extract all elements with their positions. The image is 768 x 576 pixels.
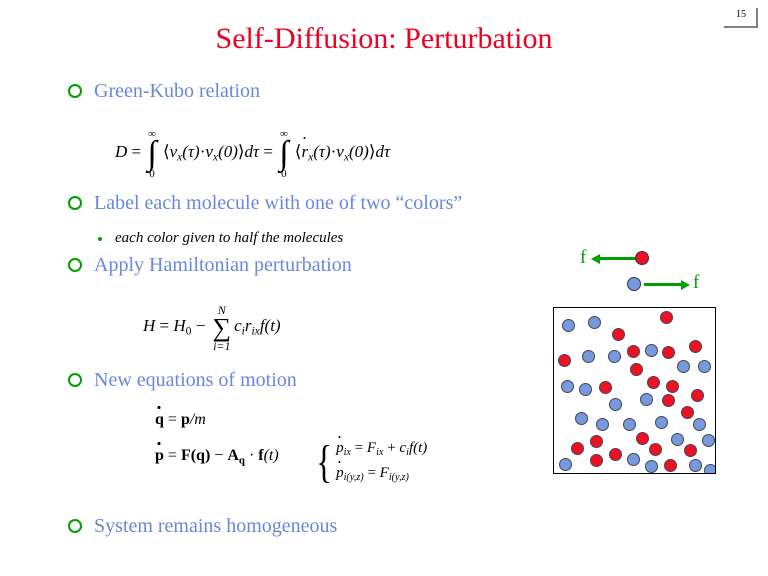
molecule-red	[636, 432, 649, 445]
arrow-line-right	[644, 283, 682, 286]
eq-H-minus: −	[196, 316, 206, 335]
molecule-blue	[588, 316, 601, 329]
eq-b1-p: p	[336, 440, 344, 457]
eq-gk-vx1-arg: (τ)	[182, 142, 199, 161]
molecule-red	[558, 354, 571, 367]
ring-bullet-icon	[68, 519, 82, 533]
molecule-red	[662, 394, 675, 407]
integral-sign-icon: ∫	[147, 139, 156, 169]
eq-b2-p-sub: i(y,z)	[344, 472, 364, 483]
slide-number: 15	[728, 9, 754, 21]
force-label-right: f	[693, 272, 699, 294]
eq-q-m: m	[194, 411, 206, 428]
molecule-red	[571, 442, 584, 455]
brace-equation-lines: pix = Fix + cif(t) pi(y,z) = Fi(y,z)	[336, 440, 427, 483]
equation-motion-p: p = F(q) − Aq · f(t)	[155, 447, 279, 466]
molecule-red	[590, 435, 603, 448]
eq-b2-equals: =	[367, 465, 375, 481]
eq-gk-dtau-2: dτ	[375, 142, 390, 161]
molecule-blue	[693, 418, 706, 431]
molecule-blue	[671, 433, 684, 446]
molecule-blue	[596, 418, 609, 431]
eq-gk-bra-2: ⟨	[295, 142, 302, 161]
molecule-red	[691, 389, 704, 402]
eq-p-dot: ·	[249, 447, 254, 464]
red-particle-top	[635, 251, 649, 265]
eq-b1-p-sub: ix	[344, 447, 351, 458]
eq-b2-F: F	[380, 465, 389, 481]
bullet-label: System remains homogeneous	[94, 515, 337, 537]
molecule-blue	[702, 434, 715, 447]
molecule-blue	[645, 460, 658, 473]
eq-H-f-arg: (t)	[265, 316, 281, 335]
molecule-blue	[562, 319, 575, 332]
molecule-simulation-box	[553, 307, 716, 474]
eq-q-equals: =	[168, 411, 177, 428]
molecule-red	[684, 444, 697, 457]
dot-bullet-icon	[98, 237, 102, 241]
eq-gk-ket-1: ⟩	[238, 142, 245, 161]
eq-gk-dtau-1: dτ	[245, 142, 260, 161]
eq-H: H	[143, 316, 155, 335]
eq-b2-F-sub: i(y,z)	[389, 472, 409, 483]
eq-gk-rdot-arg: (τ)	[313, 142, 330, 161]
braced-equation-p-i-yz: pi(y,z) = Fi(y,z)	[336, 465, 427, 483]
eq-gk-equals: =	[132, 142, 142, 161]
eq-gk-equals-2: =	[263, 142, 273, 161]
molecule-red	[647, 376, 660, 389]
eq-pdot: p	[155, 447, 164, 465]
eq-qdot: q	[155, 411, 164, 429]
molecule-blue	[579, 383, 592, 396]
integral-sign-icon-2: ∫	[279, 139, 288, 169]
molecule-blue	[561, 380, 574, 393]
eq-gk-vx3-arg: (0)	[349, 142, 369, 161]
eq-p-F: F	[181, 447, 191, 464]
molecule-blue	[677, 360, 690, 373]
bullet-apply-hamiltonian: Apply Hamiltonian perturbation	[68, 254, 352, 276]
eq-gk-bra-1: ⟨	[163, 142, 170, 161]
eq-p-A-sub: q	[239, 454, 245, 466]
molecule-red	[627, 345, 640, 358]
eq-p-f-arg: (t)	[264, 447, 279, 464]
eq-b1-plus: +	[387, 440, 395, 456]
molecule-blue	[655, 416, 668, 429]
integral-operator-2: ∞ ∫ 0	[279, 129, 288, 179]
molecule-blue	[645, 344, 658, 357]
molecule-blue	[698, 360, 711, 373]
page-title: Self-Diffusion: Perturbation	[0, 22, 768, 56]
sum-operator: N ∑ i=1	[213, 304, 232, 352]
eq-H0: H	[173, 316, 185, 335]
eq-b1-F-sub: ix	[376, 447, 383, 458]
ring-bullet-icon	[68, 373, 82, 387]
eq-H-c: c	[234, 316, 242, 335]
arrow-line-left	[600, 257, 638, 260]
left-brace-icon: {	[316, 445, 331, 479]
eq-H-equals: =	[160, 316, 170, 335]
molecule-red	[681, 406, 694, 419]
eq-b1-equals: =	[355, 440, 363, 456]
sigma-sign-icon: ∑	[213, 316, 232, 340]
eq-b1-F: F	[367, 440, 376, 456]
subbullet-each-color: each color given to half the molecules	[98, 230, 343, 247]
bullet-green-kubo: Green-Kubo relation	[68, 80, 260, 102]
molecule-red	[612, 328, 625, 341]
force-label-left: f	[580, 247, 586, 269]
braced-equation-system: { pix = Fix + cif(t) pi(y,z) = Fi(y,z)	[313, 440, 427, 483]
integral-lower-limit-2: 0	[281, 169, 287, 179]
force-diagram: f f	[575, 245, 715, 300]
eq-gk-vx1: v	[170, 142, 178, 161]
bullet-system-homogeneous: System remains homogeneous	[68, 515, 337, 537]
molecule-red	[662, 346, 675, 359]
bullet-new-equations: New equations of motion	[68, 369, 297, 391]
equation-green-kubo: D = ∞ ∫ 0 ⟨vx(τ)·vx(0)⟩dτ = ∞ ∫ 0 ⟨rx(τ)…	[115, 128, 390, 178]
arrow-head-right-icon	[681, 280, 690, 290]
molecule-blue	[689, 459, 702, 472]
molecule-red	[630, 363, 643, 376]
molecule-blue	[623, 418, 636, 431]
molecule-blue	[640, 393, 653, 406]
eq-b1-f-arg: (t)	[413, 440, 427, 456]
eq-p-F-arg: (q)	[191, 447, 211, 464]
eq-gk-vx3: v	[336, 142, 344, 161]
molecule-red	[660, 311, 673, 324]
bullet-label: Apply Hamiltonian perturbation	[94, 254, 352, 276]
molecule-red	[689, 340, 702, 353]
molecule-blue	[608, 350, 621, 363]
ring-bullet-icon	[68, 196, 82, 210]
molecule-blue	[627, 453, 640, 466]
molecule-red	[666, 380, 679, 393]
eq-gk-rdot: r	[301, 142, 308, 162]
eq-gk-vx2-arg: (0)	[218, 142, 238, 161]
bullet-label-molecule: Label each molecule with one of two “col…	[68, 192, 462, 214]
bullet-label: New equations of motion	[94, 369, 297, 391]
molecule-red	[664, 459, 677, 472]
eq-p-A: A	[227, 447, 239, 464]
molecule-blue	[575, 412, 588, 425]
arrow-head-left-icon	[591, 254, 600, 264]
eq-H-r-sub: ix	[251, 324, 259, 337]
eq-b2-p: p	[336, 465, 344, 482]
molecule-red	[609, 448, 622, 461]
braced-equation-p-ix: pix = Fix + cif(t)	[336, 440, 427, 458]
integral-operator-1: ∞ ∫ 0	[147, 129, 156, 179]
eq-p-equals: =	[168, 447, 177, 464]
eq-H0-sub: 0	[186, 324, 192, 337]
molecule-blue	[559, 458, 572, 471]
molecule-blue	[704, 464, 716, 474]
eq-q-p: p	[181, 411, 190, 428]
eq-p-minus: −	[214, 447, 223, 464]
molecule-red	[599, 381, 612, 394]
blue-particle-bottom	[627, 277, 641, 291]
subbullet-label: each color given to half the molecules	[115, 230, 343, 247]
eq-gk-vx2: v	[205, 142, 213, 161]
molecule-blue	[609, 398, 622, 411]
ring-bullet-icon	[68, 258, 82, 272]
equation-hamiltonian: H = H0 − N ∑ i=1 cirixf(t)	[143, 303, 281, 351]
ring-bullet-icon	[68, 84, 82, 98]
bullet-label: Label each molecule with one of two “col…	[94, 192, 462, 214]
equation-motion-q: q = p/m	[155, 411, 206, 429]
slide-canvas: 15 Self-Diffusion: Perturbation Green-Ku…	[0, 0, 768, 576]
molecule-red	[649, 443, 662, 456]
sum-lower-limit: i=1	[213, 340, 230, 352]
bullet-label: Green-Kubo relation	[94, 80, 260, 102]
molecule-blue	[582, 350, 595, 363]
eq-gk-D: D	[115, 142, 127, 161]
molecule-red	[590, 454, 603, 467]
integral-lower-limit: 0	[149, 169, 155, 179]
